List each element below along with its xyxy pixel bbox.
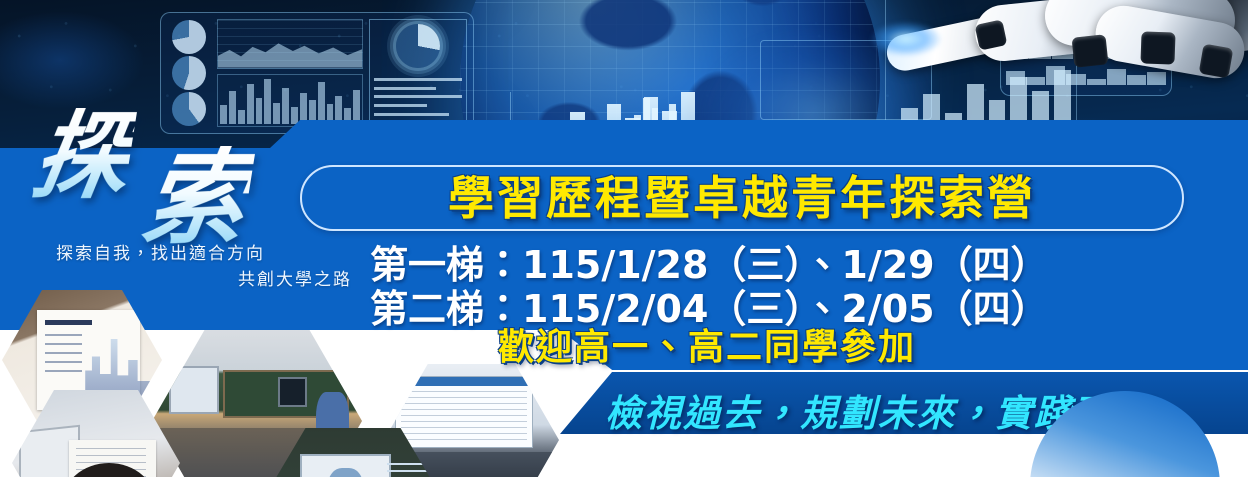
pie-chart-icon — [172, 56, 206, 90]
logo-char-1: 探 — [26, 108, 137, 204]
robot-knuckle — [1072, 34, 1109, 67]
event-logo: 探 索 — [34, 108, 334, 238]
radar-panel — [369, 19, 467, 127]
fingertip-glow-icon — [871, 22, 941, 56]
main-title-pill: 學習歷程暨卓越青年探索營 — [300, 165, 1184, 231]
area-chart-icon — [217, 19, 363, 69]
logo-char-2: 索 — [136, 146, 256, 250]
pie-chart-icon — [172, 20, 206, 54]
event-promo-banner: 探 索 探索自我，找出適合方向 共創大學之路 學習歷程暨卓越青年探索營 第一梯：… — [0, 0, 1248, 477]
radar-chart-icon — [396, 24, 440, 68]
text-lines-placeholder — [374, 72, 462, 122]
robot-knuckle — [1140, 31, 1175, 64]
subtitle-line-2: 共創大學之路 — [56, 268, 356, 294]
audience-note: 歡迎高一、高二同學參加 — [498, 318, 916, 370]
subtitle-block: 探索自我，找出適合方向 共創大學之路 — [56, 242, 356, 293]
robot-knuckle — [1199, 44, 1234, 79]
page-title: 學習歷程暨卓越青年探索營 — [448, 175, 1036, 221]
subtitle-line-1: 探索自我，找出適合方向 — [56, 242, 356, 268]
